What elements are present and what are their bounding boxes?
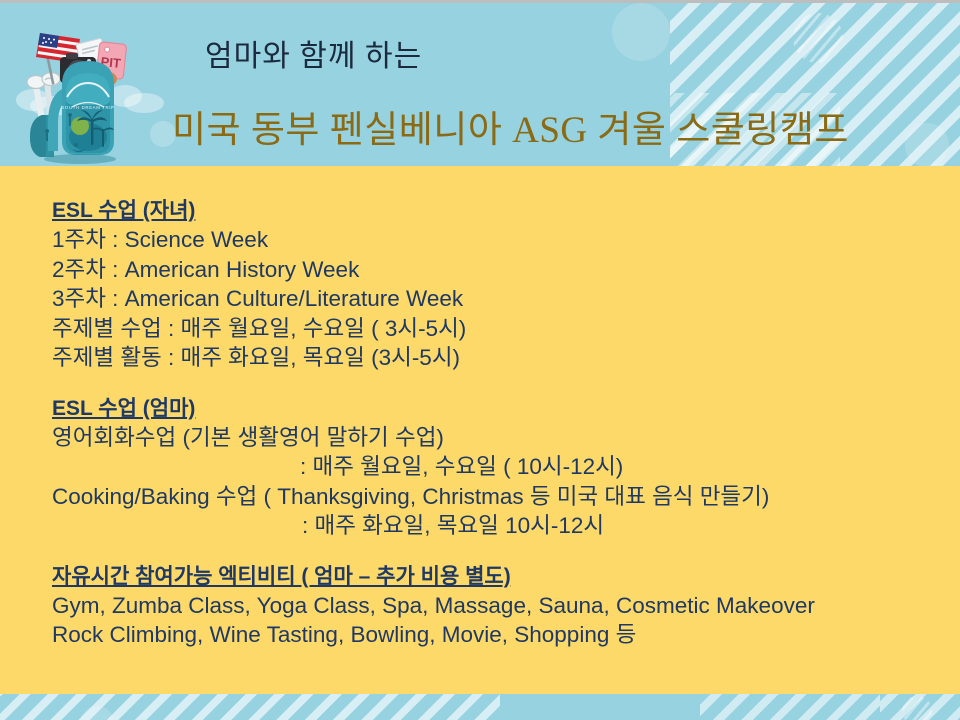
content-line: 3주차 : American Culture/Literature Week <box>52 284 942 314</box>
circle-decoration <box>905 123 949 166</box>
section-spacer <box>52 541 942 562</box>
content-line: : 매주 월요일, 수요일 ( 10시-12시) <box>52 452 942 482</box>
section-heading: ESL 수업 (엄마) <box>52 394 942 423</box>
section-heading: ESL 수업 (자녀) <box>52 196 942 225</box>
content-text-block: ESL 수업 (자녀)1주차 : Science Week2주차 : Ameri… <box>52 196 942 650</box>
circle-decoration <box>612 3 670 61</box>
content-line: 1주차 : Science Week <box>52 225 942 255</box>
content-line: Cooking/Baking 수업 ( Thanksgiving, Christ… <box>52 482 942 512</box>
content-line: Rock Climbing, Wine Tasting, Bowling, Mo… <box>52 620 942 650</box>
top-divider-rule <box>0 0 960 3</box>
body-area: ESL 수업 (자녀)1주차 : Science Week2주차 : Ameri… <box>0 166 960 694</box>
svg-text:SOUTH DREAM TRIP: SOUTH DREAM TRIP <box>61 105 114 110</box>
content-line: Gym, Zumba Class, Yoga Class, Spa, Massa… <box>52 591 942 621</box>
footer-band <box>0 694 960 720</box>
striped-circle-decoration <box>793 13 843 63</box>
section-spacer <box>52 373 942 394</box>
header-band: PIT <box>0 3 960 166</box>
travel-backpack-illustration: PIT <box>14 19 146 165</box>
content-line: 주제별 수업 : 매주 월요일, 수요일 ( 3시-5시) <box>52 314 942 344</box>
slide-title-line-2: 미국 동부 펜실베니아 ASG 겨울 스쿨링캠프 <box>172 99 849 153</box>
section-heading: 자유시간 참여가능 엑티비티 ( 엄마 – 추가 비용 별도) <box>52 562 942 591</box>
footer-stripes-left <box>0 694 500 720</box>
content-line: 2주차 : American History Week <box>52 255 942 285</box>
footer-stripes-center <box>700 694 880 720</box>
content-line: 영어회화수업 (기본 생활영어 말하기 수업) <box>52 423 942 453</box>
content-line: : 매주 화요일, 목요일 10시-12시 <box>52 511 942 541</box>
content-line: 주제별 활동 : 매주 화요일, 목요일 (3시-5시) <box>52 343 942 373</box>
slide-title-line-1: 엄마와 함께 하는 <box>205 31 422 75</box>
footer-striped-circle <box>902 696 932 720</box>
presentation-slide: PIT <box>0 0 960 720</box>
